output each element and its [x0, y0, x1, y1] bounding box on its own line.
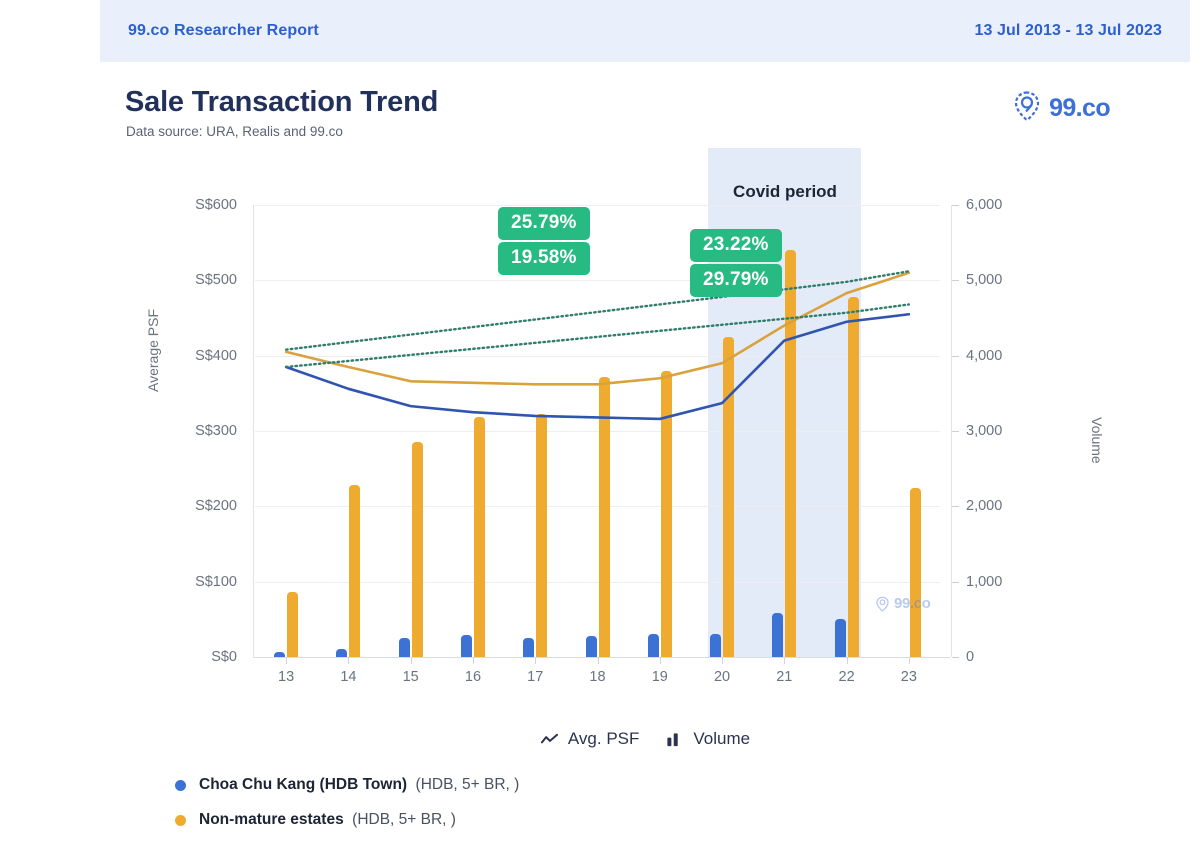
status-badge: 23.22% [690, 229, 782, 262]
line-non-mature-estates-trend [286, 271, 909, 349]
bar-choa-chu-kang[interactable] [835, 619, 846, 657]
y-axis-right-tick: 0 [966, 649, 974, 665]
legend-color-swatch [175, 780, 186, 791]
bar-choa-chu-kang[interactable] [461, 635, 472, 657]
axis-spine-left [253, 205, 254, 657]
bar-non-mature[interactable] [412, 442, 423, 657]
legend-item-non-mature[interactable]: Non-mature estates (HDB, 5+ BR, ) [175, 811, 519, 829]
status-badge: 19.58% [498, 242, 590, 275]
bar-choa-chu-kang[interactable] [274, 652, 285, 657]
chart-type-legend: Avg. PSF Volume [100, 729, 1190, 749]
y-axis-left-tick: S$400 [195, 348, 237, 364]
report-card: Sale Transaction Trend Data source: URA,… [100, 62, 1190, 850]
y-axis-right-tick: 6,000 [966, 197, 1002, 213]
tickmark [847, 657, 848, 664]
legend-series-name: Non-mature estates [199, 811, 344, 828]
bar-non-mature[interactable] [723, 337, 734, 657]
legend-series-meta: (HDB, 5+ BR, ) [416, 776, 520, 793]
tickmark [952, 356, 959, 357]
tickmark [473, 657, 474, 664]
tickmark [952, 657, 959, 658]
tickmark [722, 657, 723, 664]
bar-choa-chu-kang[interactable] [648, 634, 659, 657]
tickmark [598, 657, 599, 664]
y-axis-right-tick: 3,000 [966, 423, 1002, 439]
location-pin-icon [875, 596, 890, 612]
tickmark [952, 205, 959, 206]
gridline [255, 356, 940, 357]
x-axis-tick: 22 [839, 669, 855, 685]
report-header-band: 99.co Researcher Report 13 Jul 2013 - 13… [100, 0, 1190, 62]
line-non-mature-estates [286, 273, 909, 384]
y-axis-right-tick: 2,000 [966, 498, 1002, 514]
bar-choa-chu-kang[interactable] [710, 634, 721, 657]
x-axis-tick: 19 [652, 669, 668, 685]
chart-watermark-text: 99.co [894, 595, 930, 612]
bar-choa-chu-kang[interactable] [336, 649, 347, 657]
gridline [255, 431, 940, 432]
series-legend: Choa Chu Kang (HDB Town) (HDB, 5+ BR, ) … [175, 776, 519, 846]
y-axis-left-tick: S$300 [195, 423, 237, 439]
plot-area: S$0S$100S$200S$300S$400S$500S$60001,0002… [255, 205, 940, 657]
report-date-range: 13 Jul 2013 - 13 Jul 2023 [974, 22, 1162, 40]
line-choa-chu-kang-trend [286, 304, 909, 367]
bar-non-mature[interactable] [661, 371, 672, 657]
y-axis-left-title: Average PSF [145, 309, 161, 392]
y-axis-left-tick: S$600 [195, 197, 237, 213]
y-axis-left-tick: S$500 [195, 272, 237, 288]
bar-non-mature[interactable] [536, 414, 547, 657]
tickmark [952, 582, 959, 583]
tickmark [909, 657, 910, 664]
line-choa-chu-kang-hdb-town- [286, 314, 909, 419]
tickmark [952, 431, 959, 432]
y-axis-left-tick: S$200 [195, 498, 237, 514]
y-axis-right-tick: 4,000 [966, 348, 1002, 364]
status-badge: 29.79% [690, 264, 782, 297]
status-badge: 25.79% [498, 207, 590, 240]
bar-non-mature[interactable] [287, 592, 298, 657]
x-axis-tick: 16 [465, 669, 481, 685]
bar-non-mature[interactable] [785, 250, 796, 657]
x-axis-tick: 20 [714, 669, 730, 685]
x-axis-tick: 13 [278, 669, 294, 685]
y-axis-right-title: Volume [1089, 417, 1105, 464]
tickmark [535, 657, 536, 664]
legend-label-avg-psf: Avg. PSF [568, 729, 640, 749]
trend-badge-group-left: 25.79% 19.58% [498, 207, 590, 275]
legend-item-volume[interactable]: Volume [665, 729, 750, 749]
report-header-label: 99.co Researcher Report [128, 22, 319, 40]
bar-choa-chu-kang[interactable] [399, 638, 410, 657]
chart-watermark: 99.co [875, 595, 930, 612]
tickmark [348, 657, 349, 664]
legend-item-choa-chu-kang[interactable]: Choa Chu Kang (HDB Town) (HDB, 5+ BR, ) [175, 776, 519, 794]
x-axis-tick: 15 [403, 669, 419, 685]
covid-period-label: Covid period [733, 182, 837, 202]
y-axis-right-tick: 1,000 [966, 574, 1002, 590]
chart-area: Covid period S$0S$100S$200S$300S$400S$50… [100, 62, 1190, 850]
line-chart-icon [540, 730, 559, 749]
bar-choa-chu-kang[interactable] [772, 613, 783, 657]
tickmark [286, 657, 287, 664]
gridline [255, 205, 940, 206]
bar-non-mature[interactable] [599, 377, 610, 657]
bar-choa-chu-kang[interactable] [523, 638, 534, 657]
tickmark [784, 657, 785, 664]
x-axis-baseline [253, 657, 950, 658]
legend-series-name: Choa Chu Kang (HDB Town) [199, 776, 407, 793]
y-axis-left-tick: S$0 [211, 649, 237, 665]
x-axis-tick: 21 [776, 669, 792, 685]
bar-non-mature[interactable] [848, 297, 859, 657]
bar-choa-chu-kang[interactable] [586, 636, 597, 657]
legend-label-volume: Volume [693, 729, 750, 749]
x-axis-tick: 17 [527, 669, 543, 685]
bar-non-mature[interactable] [910, 488, 921, 657]
legend-item-avg-psf[interactable]: Avg. PSF [540, 729, 640, 749]
y-axis-left-tick: S$100 [195, 574, 237, 590]
bar-chart-icon [665, 730, 684, 749]
tickmark [952, 506, 959, 507]
legend-series-meta: (HDB, 5+ BR, ) [352, 811, 456, 828]
x-axis-tick: 23 [901, 669, 917, 685]
axis-spine-right [951, 205, 952, 657]
legend-color-swatch [175, 815, 186, 826]
y-axis-right-tick: 5,000 [966, 272, 1002, 288]
gridline [255, 280, 940, 281]
bar-non-mature[interactable] [474, 417, 485, 657]
tickmark [952, 280, 959, 281]
tickmark [660, 657, 661, 664]
tickmark [411, 657, 412, 664]
bar-non-mature[interactable] [349, 485, 360, 657]
x-axis-tick: 18 [589, 669, 605, 685]
x-axis-tick: 14 [340, 669, 356, 685]
trend-badge-group-right: 23.22% 29.79% [690, 229, 782, 297]
